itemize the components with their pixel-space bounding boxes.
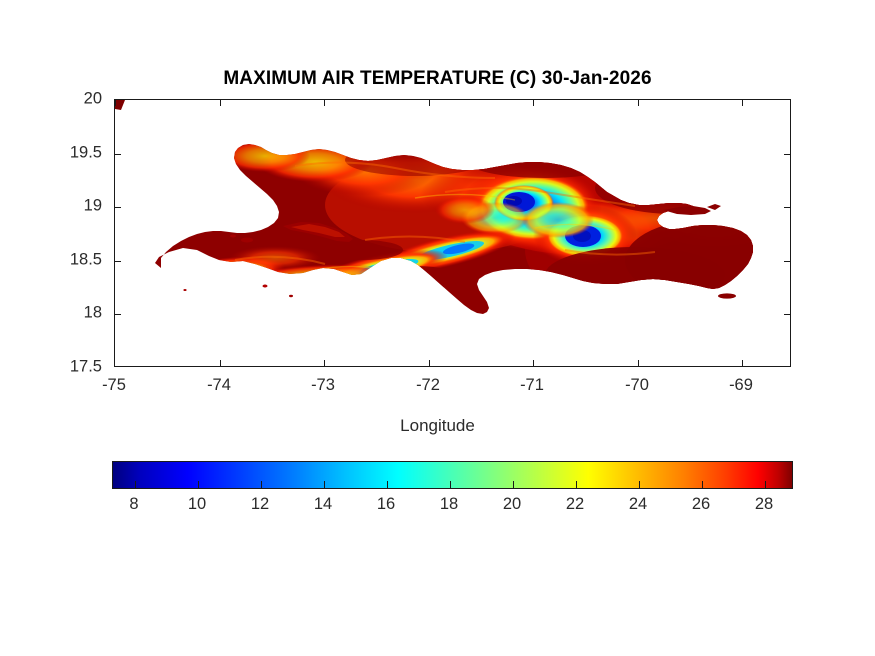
- colorbar-label: 18: [419, 495, 479, 514]
- ytick-mark: [784, 207, 790, 208]
- colorbar-tick: [135, 481, 136, 488]
- map-axes[interactable]: [114, 99, 791, 367]
- colorbar-label: 14: [293, 495, 353, 514]
- xtick-mark: [742, 360, 743, 366]
- colorbar-label: 22: [545, 495, 605, 514]
- colorbar-tick: [261, 481, 262, 488]
- colorbar-tick: [324, 481, 325, 488]
- ytick-mark: [115, 261, 121, 262]
- ytick-label: 18: [58, 304, 102, 323]
- colorbar-label: 10: [167, 495, 227, 514]
- colorbar-tick: [450, 481, 451, 488]
- ytick-mark: [784, 261, 790, 262]
- xtick-mark: [324, 360, 325, 366]
- ytick-label: 20: [58, 90, 102, 109]
- xtick-mark: [324, 100, 325, 106]
- colorbar[interactable]: [112, 461, 793, 489]
- x-axis-label: Longitude: [0, 416, 875, 436]
- colorbar-label: 20: [482, 495, 542, 514]
- xtick-mark: [429, 100, 430, 106]
- colorbar-tick: [576, 481, 577, 488]
- xtick-label: -73: [293, 376, 353, 395]
- colorbar-label: 12: [230, 495, 290, 514]
- xtick-mark: [115, 100, 116, 106]
- figure-canvas: MAXIMUM AIR TEMPERATURE (C) 30-Jan-2026: [0, 0, 875, 656]
- xtick-mark: [742, 100, 743, 106]
- colorbar-label: 24: [608, 495, 668, 514]
- colorbar-tick: [639, 481, 640, 488]
- temperature-heatmap: [115, 100, 791, 367]
- colorbar-tick: [702, 481, 703, 488]
- ytick-mark: [115, 154, 121, 155]
- xtick-label: -74: [189, 376, 249, 395]
- page-title: MAXIMUM AIR TEMPERATURE (C) 30-Jan-2026: [0, 68, 875, 90]
- colorbar-label: 16: [356, 495, 416, 514]
- ytick-mark: [784, 154, 790, 155]
- ytick-mark: [784, 314, 790, 315]
- colorbar-tick: [387, 481, 388, 488]
- colorbar-label: 28: [734, 495, 794, 514]
- xtick-label: -69: [711, 376, 771, 395]
- ytick-mark: [115, 207, 121, 208]
- xtick-label: -75: [84, 376, 144, 395]
- xtick-mark: [638, 360, 639, 366]
- xtick-mark: [220, 100, 221, 106]
- xtick-mark: [533, 100, 534, 106]
- colorbar-label: 8: [104, 495, 164, 514]
- colorbar-tick: [198, 481, 199, 488]
- xtick-mark: [429, 360, 430, 366]
- ytick-label: 17.5: [58, 358, 102, 377]
- ytick-label: 19.5: [58, 143, 102, 162]
- colorbar-label: 26: [671, 495, 731, 514]
- xtick-label: -72: [398, 376, 458, 395]
- ytick-label: 19: [58, 197, 102, 216]
- ytick-label: 18.5: [58, 250, 102, 269]
- xtick-mark: [220, 360, 221, 366]
- colorbar-tick: [513, 481, 514, 488]
- colorbar-tick: [765, 481, 766, 488]
- xtick-mark: [533, 360, 534, 366]
- xtick-mark: [638, 100, 639, 106]
- xtick-label: -70: [607, 376, 667, 395]
- ytick-mark: [115, 314, 121, 315]
- xtick-label: -71: [502, 376, 562, 395]
